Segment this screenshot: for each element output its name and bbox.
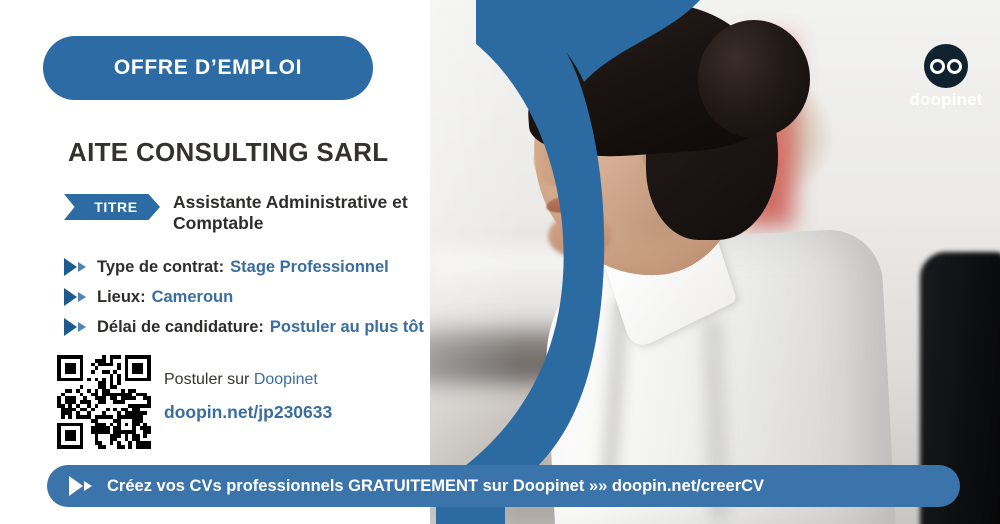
detail-value: Stage Professionnel [230,258,389,277]
job-title: Assistante Administrative et Comptable [173,192,491,234]
double-chevron-icon [64,288,94,306]
detail-value: Cameroun [152,288,234,307]
titre-badge: TITRE [64,194,160,220]
company-name: AITE CONSULTING SARL [68,137,388,168]
hair-bun [698,20,810,138]
offer-details-card: OFFRE D’EMPLOI AITE CONSULTING SARL TITR… [0,0,520,524]
titre-badge-label: TITRE [86,199,137,215]
apply-brand: Doopinet [254,371,318,388]
apply-instruction: Postuler sur Doopinet [164,371,332,389]
detail-row-contract: Type de contrat: Stage Professionnel [64,252,514,282]
apply-texts: Postuler sur Doopinet doopin.net/jp23063… [164,355,332,423]
infinity-circle-icon [924,44,968,88]
qr-code-icon[interactable] [57,355,151,449]
detail-row-location: Lieux: Cameroun [64,282,514,312]
double-chevron-icon [69,476,101,496]
chin [548,214,612,258]
detail-label: Lieux: [97,288,146,307]
detail-list: Type de contrat: Stage Professionnel Lie… [64,252,514,342]
doopinet-logo: doopinet [905,44,987,116]
detail-label: Délai de candidature: [97,318,264,337]
apply-url[interactable]: doopin.net/jp230633 [164,402,332,423]
job-title-row: TITRE Assistante Administrative et Compt… [64,192,494,234]
cv-promo-text: Créez vos CVs professionnels GRATUITEMEN… [107,477,764,496]
detail-value: Postuler au plus tôt [270,318,424,337]
offer-badge: OFFRE D’EMPLOI [43,36,373,100]
job-offer-poster: OFFRE D’EMPLOI AITE CONSULTING SARL TITR… [0,0,1000,524]
double-chevron-icon [64,318,94,336]
detail-row-deadline: Délai de candidature: Postuler au plus t… [64,312,514,342]
apply-block: Postuler sur Doopinet doopin.net/jp23063… [57,355,332,449]
double-chevron-icon [64,258,94,276]
apply-prefix: Postuler sur [164,371,254,388]
logo-wordmark: doopinet [905,90,987,110]
cv-promo-banner[interactable]: Créez vos CVs professionnels GRATUITEMEN… [47,465,960,507]
offer-badge-label: OFFRE D’EMPLOI [114,56,302,80]
detail-label: Type de contrat: [97,258,224,277]
